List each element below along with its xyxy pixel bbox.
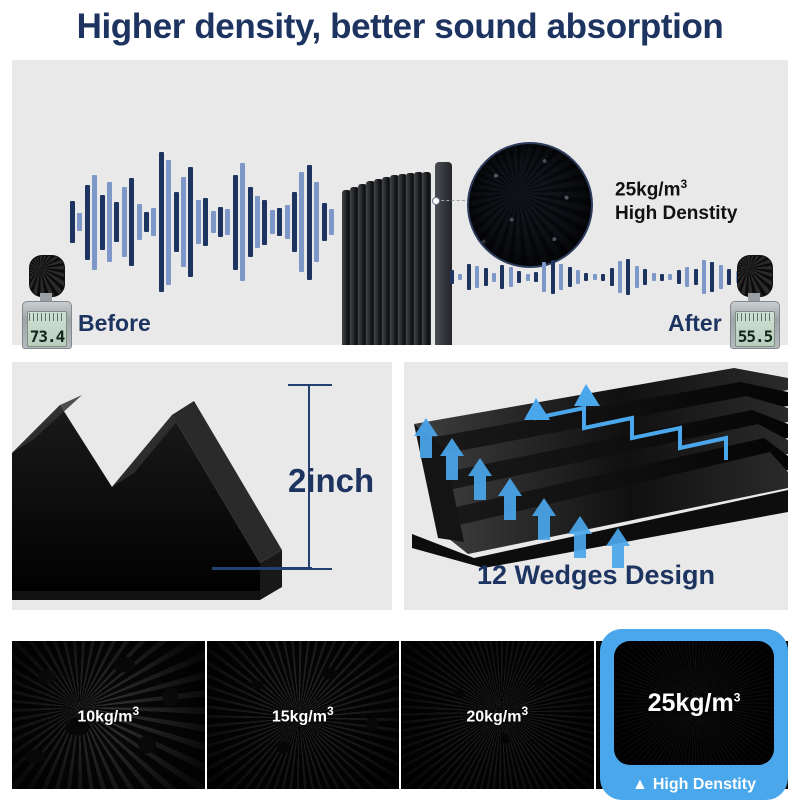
soundwave-bar (635, 266, 639, 288)
foam-profile-svg (12, 395, 302, 610)
soundwave-bar (159, 152, 164, 292)
soundwave-bar (719, 265, 723, 289)
density-label-20: 20kg/m3 (466, 704, 528, 726)
triangle-up-icon: ▲ (632, 776, 648, 794)
soundwave-bar (450, 270, 454, 284)
cubic-meter-superscript: 3 (521, 704, 528, 718)
sound-absorption-panel: 25kg/m3 High Denstity (12, 60, 788, 345)
microphone-windscreen-icon (29, 255, 65, 297)
soundwave-bar (668, 274, 672, 280)
density-cell-20: 20kg/m3 (401, 641, 596, 789)
highlight-density-value: 25kg/m3 (648, 689, 741, 718)
outgoing-soundwave (450, 257, 780, 297)
soundwave-bar (137, 204, 142, 240)
meter-reading-after: 55.5 (738, 328, 773, 346)
density-label-10: 10kg/m3 (77, 704, 139, 726)
soundwave-bar (677, 270, 681, 284)
soundwave-bar (618, 261, 622, 293)
cubic-meter-superscript: 3 (327, 704, 334, 718)
soundwave-bar (307, 165, 312, 280)
infographic-page: Higher density, better sound absorption … (0, 0, 800, 800)
wedges-design-label: 12 Wedges Design (404, 560, 788, 591)
soundwave-bar (218, 207, 223, 237)
soundwave-bar (322, 203, 327, 241)
soundwave-bar (329, 209, 334, 235)
soundwave-bar (262, 200, 267, 245)
soundwave-bar (92, 175, 97, 270)
label-before: Before (78, 310, 151, 337)
soundwave-bar (492, 273, 496, 282)
highlight-footer-text: High Denstity (653, 776, 756, 793)
soundwave-bar (314, 182, 319, 262)
soundwave-bar (526, 274, 530, 281)
soundwave-bar (551, 260, 555, 294)
foam-panel-side (435, 162, 452, 345)
highlighted-density-card[interactable]: 25kg/m3 ▲High Denstity (600, 629, 788, 800)
soundwave-bar (144, 212, 149, 232)
soundwave-bar (458, 274, 462, 280)
density-callout: 25kg/m3 High Denstity (615, 172, 775, 226)
foam-wedge-profile (12, 395, 302, 610)
soundwave-bar (584, 273, 588, 281)
soundwave-bar (122, 187, 127, 257)
soundwave-bar (509, 267, 513, 287)
soundwave-bar (559, 264, 563, 290)
soundwave-bar (233, 175, 238, 270)
soundwave-bar (542, 262, 546, 292)
magnifier-anchor-dot (432, 197, 440, 205)
callout-density-value: 25kg/m3 (615, 172, 775, 202)
meter-scale-ticks (29, 313, 63, 321)
cubic-meter-superscript: 3 (132, 704, 139, 718)
soundwave-bar (601, 274, 605, 281)
incoming-soundwave (70, 147, 338, 297)
soundwave-bar (500, 265, 504, 289)
acoustic-foam-panel (342, 172, 438, 345)
soundwave-bar (166, 160, 171, 285)
soundwave-bar (174, 192, 179, 252)
soundwave-bar (593, 274, 597, 280)
highlight-foam-texture: 25kg/m3 (614, 641, 774, 765)
cubic-meter-superscript: 3 (734, 690, 741, 704)
soundwave-bar (660, 274, 664, 281)
soundwave-bar (626, 259, 630, 295)
callout-density-subtitle: High Denstity (615, 202, 775, 226)
soundwave-bar (534, 272, 538, 282)
density-cell-10: 10kg/m3 (12, 641, 207, 789)
soundwave-bar (225, 209, 230, 235)
soundwave-bar (255, 196, 260, 248)
meter-reading-before: 73.4 (30, 328, 65, 346)
dimension-cap-top (288, 384, 332, 386)
foam-texture-magnifier (467, 142, 593, 268)
soundwave-bar (240, 163, 245, 281)
density-label-15: 15kg/m3 (272, 704, 334, 726)
soundwave-bar (129, 178, 134, 266)
soundwave-bar (270, 210, 275, 234)
soundwave-bar (694, 269, 698, 285)
microphone-windscreen-icon (737, 255, 773, 297)
soundwave-bar (151, 208, 156, 236)
thickness-panel: 2inch (12, 362, 392, 610)
soundwave-bar (196, 200, 201, 244)
soundwave-bar (277, 208, 282, 236)
soundwave-bar (643, 269, 647, 285)
soundwave-bar (727, 269, 731, 285)
soundwave-bar (576, 270, 580, 284)
soundwave-bar (475, 266, 479, 288)
soundwave-bar (70, 201, 75, 243)
soundwave-bar (484, 268, 488, 286)
soundwave-bar (114, 202, 119, 242)
thickness-label: 2inch (288, 462, 374, 500)
density-cell-15: 15kg/m3 (207, 641, 402, 789)
wedge-foam-perspective-svg (404, 362, 788, 572)
cubic-meter-superscript: 3 (680, 177, 687, 191)
label-after: After (668, 310, 722, 337)
soundwave-bar (710, 262, 714, 292)
soundwave-bar (77, 213, 82, 231)
soundwave-bar (100, 195, 105, 250)
dimension-cap-bottom (288, 568, 332, 570)
highlight-footer: ▲High Denstity (600, 776, 788, 794)
soundwave-bar (107, 182, 112, 262)
soundwave-bar (685, 267, 689, 287)
soundwave-bar (702, 260, 706, 294)
soundwave-bar (467, 264, 471, 290)
magnifier-leader-line (436, 200, 470, 201)
soundwave-bar (85, 185, 90, 260)
wedges-design-panel: 12 Wedges Design (404, 362, 788, 610)
page-title: Higher density, better sound absorption (0, 2, 800, 52)
soundwave-bar (517, 271, 521, 283)
soundwave-bar (292, 192, 297, 252)
meter-scale-ticks (737, 313, 771, 321)
soundwave-bar (568, 267, 572, 287)
soundwave-bar (181, 177, 186, 267)
soundwave-bar (652, 273, 656, 281)
soundwave-bar (211, 211, 216, 233)
soundwave-bar (610, 268, 614, 286)
soundwave-bar (285, 205, 290, 239)
soundwave-bar (299, 172, 304, 272)
soundwave-bar (248, 187, 253, 257)
soundwave-bar (188, 167, 193, 277)
soundwave-bar (203, 198, 208, 246)
